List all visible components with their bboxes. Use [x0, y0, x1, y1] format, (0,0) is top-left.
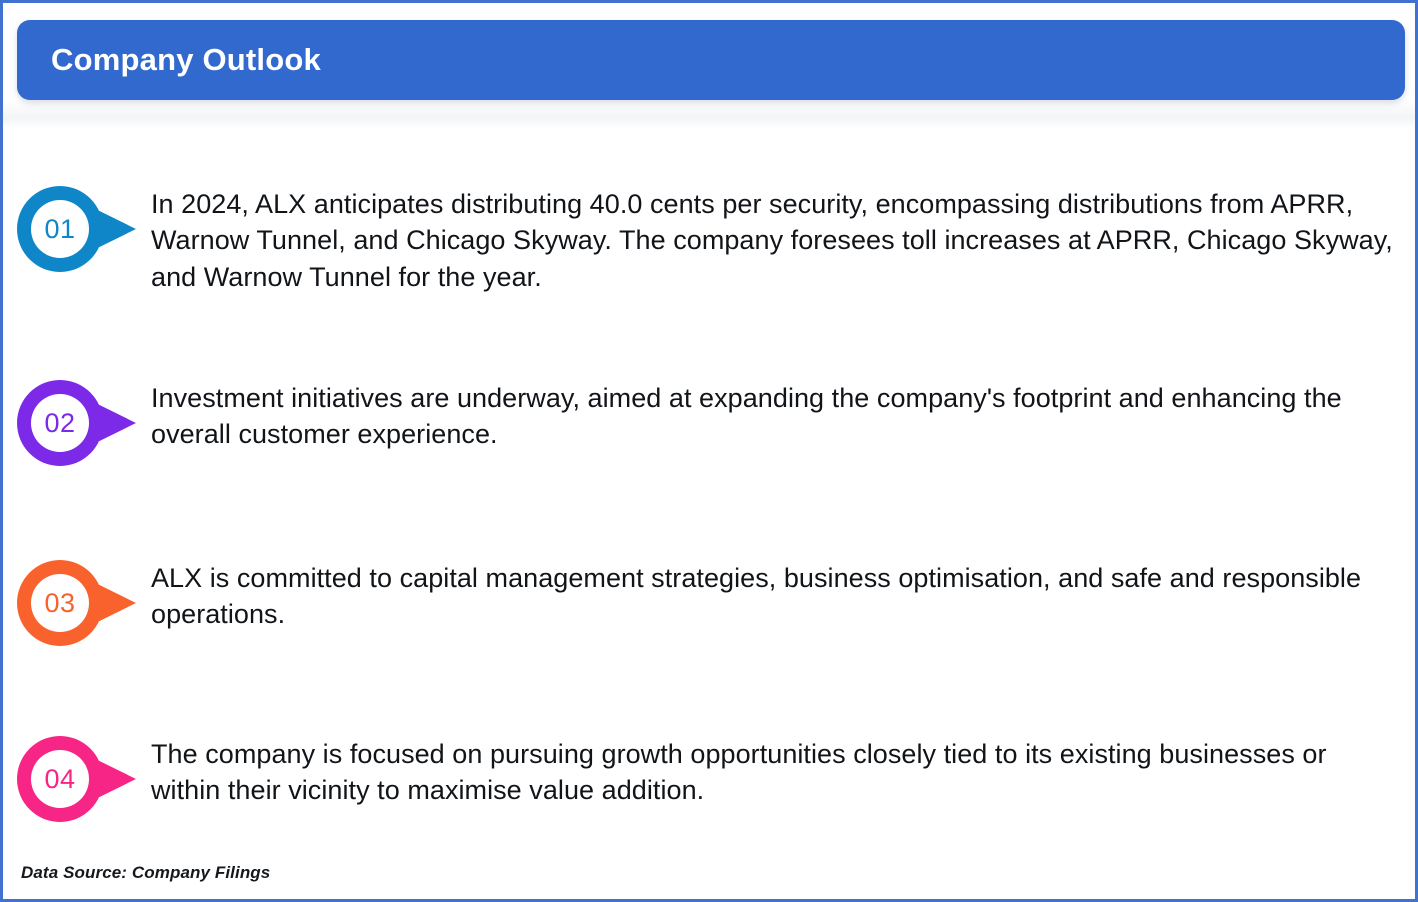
- list-item-text: In 2024, ALX anticipates distributing 40…: [151, 184, 1418, 295]
- number-badge-icon: 04: [17, 734, 151, 824]
- header-region: Company Outlook: [3, 3, 1418, 128]
- list-item: 01 In 2024, ALX anticipates distributing…: [3, 184, 1418, 295]
- number-badge-icon: 02: [17, 378, 151, 468]
- list-item-text: Investment initiatives are underway, aim…: [151, 378, 1418, 453]
- badge-inner-circle: 03: [31, 574, 89, 632]
- slide-container: Company Outlook 01 In 2024, ALX anticipa…: [0, 0, 1418, 902]
- number-badge-icon: 01: [17, 184, 151, 274]
- badge-inner-circle: 01: [31, 200, 89, 258]
- badge-inner-circle: 02: [31, 394, 89, 452]
- list-item-text: ALX is committed to capital management s…: [151, 558, 1418, 633]
- data-source-note: Data Source: Company Filings: [21, 863, 270, 883]
- badge-number: 02: [44, 410, 75, 437]
- number-badge-icon: 03: [17, 558, 151, 648]
- list-item-text: The company is focused on pursuing growt…: [151, 734, 1418, 809]
- badge-inner-circle: 04: [31, 750, 89, 808]
- list-item: 03 ALX is committed to capital managemen…: [3, 558, 1418, 648]
- header-bar: Company Outlook: [17, 20, 1405, 100]
- page-title: Company Outlook: [17, 42, 321, 78]
- badge-number: 04: [44, 766, 75, 793]
- list-item: 04 The company is focused on pursuing gr…: [3, 734, 1418, 824]
- badge-number: 03: [44, 590, 75, 617]
- list-item: 02 Investment initiatives are underway, …: [3, 378, 1418, 468]
- badge-number: 01: [44, 216, 75, 243]
